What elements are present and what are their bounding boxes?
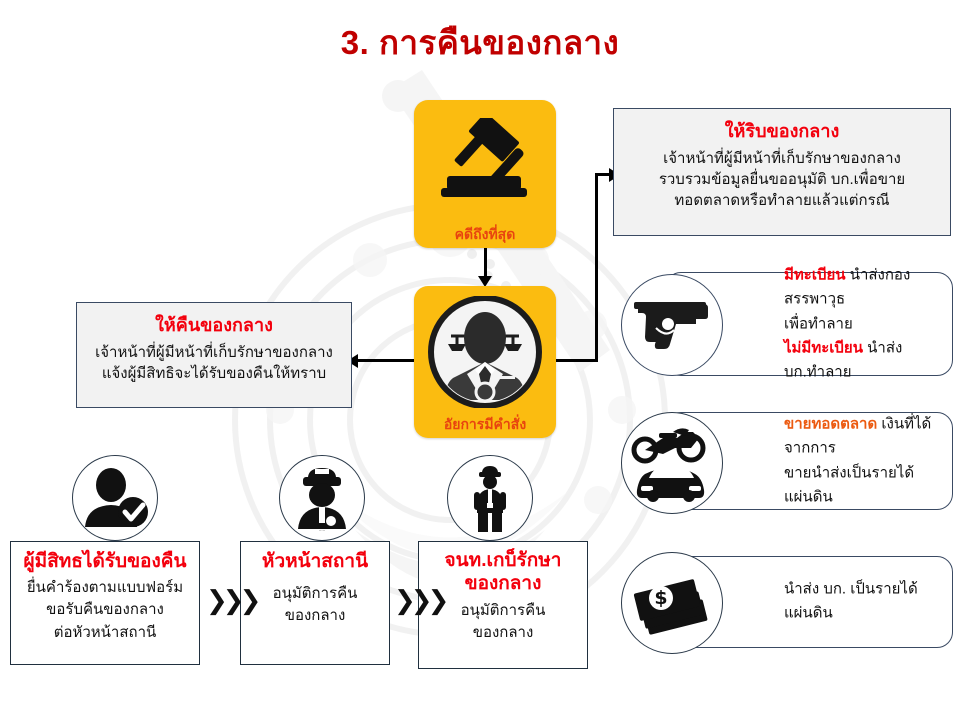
- node-case-final[interactable]: คดีถึงที่สุด: [414, 100, 556, 248]
- prosecutor-scales-icon: [414, 286, 556, 417]
- box-confiscate-title: ให้ริบของกลาง: [614, 120, 950, 143]
- page-title: 3. การคืนของกลาง: [0, 16, 960, 69]
- card-firearms-text: มีทะเบียน นำส่งกองสรรพาวุธ เพื่อทำลาย ไม…: [784, 263, 940, 384]
- workflow-step-1-line-1: ยื่นคำร้องตามแบบฟอร์ม: [11, 577, 199, 600]
- police-officer-standing-icon: [447, 455, 533, 541]
- chevron-right-icon-c: ❯: [240, 586, 257, 616]
- box-return-line-1: เจ้าหน้าที่ผู้มีหน้าที่เก็บรักษาของกลาง: [77, 342, 351, 363]
- infographic-canvas: 3. การคืนของกลาง คดีถึงที่สุด: [0, 0, 960, 720]
- card-firearms-kw-1: มีทะเบียน: [784, 266, 846, 283]
- chevron-right-icon-b: ❯: [223, 586, 240, 616]
- workflow-step-1-title: ผู้มีสิทธได้รับของคืน: [11, 551, 199, 574]
- police-officer-bust-icon: ·····: [279, 455, 365, 541]
- node-case-final-label: คดีถึงที่สุด: [455, 227, 516, 248]
- card-firearms-rest-2: เพื่อทำลาย: [784, 315, 853, 332]
- gavel-icon: [414, 100, 556, 227]
- pistol-icon: [621, 274, 723, 376]
- workflow-step-2-title: หัวหน้าสถานี: [241, 551, 389, 574]
- card-vehicles-text: ขายทอดตลาด เงินที่ได้จากการ ขายนำส่งเป็น…: [784, 412, 940, 509]
- svg-text:$: $: [654, 587, 667, 609]
- workflow-step-1-line-3: ต่อหัวหน้าสถานี: [11, 622, 199, 645]
- chevron-right-icon-f: ❯: [428, 586, 445, 616]
- node-prosecutor-order-label: อัยการมีคำสั่ง: [444, 417, 526, 438]
- banknotes-icon: $: [621, 552, 723, 654]
- connector-case-to-prosecutor: [484, 248, 487, 278]
- person-check-icon: [72, 455, 158, 541]
- workflow-separator-2: ❯❯❯: [394, 588, 444, 614]
- node-prosecutor-order[interactable]: อัยการมีคำสั่ง: [414, 286, 556, 438]
- svg-text:·····: ·····: [319, 528, 325, 533]
- connector-prosecutor-to-return: [357, 359, 417, 362]
- workflow-step-2-line-1: อนุมัติการคืน: [241, 583, 389, 606]
- workflow-step-1: ผู้มีสิทธได้รับของคืน ยื่นคำร้องตามแบบฟอ…: [10, 541, 200, 665]
- motorcycle-car-icon: [621, 412, 723, 514]
- connector-prosecutor-elbow-v: [595, 173, 598, 362]
- card-vehicles-kw-1: ขายทอดตลาด: [784, 415, 877, 432]
- card-money-text: นำส่ง บก. เป็นรายได้แผ่นดิน: [784, 578, 940, 627]
- box-confiscate-line-1: เจ้าหน้าที่ผู้มีหน้าที่เก็บรักษาของกลาง: [614, 148, 950, 169]
- workflow-step-1-line-2: ขอรับคืนของกลาง: [11, 599, 199, 622]
- box-return-title: ให้คืนของกลาง: [77, 314, 351, 337]
- box-confiscate: ให้ริบของกลาง เจ้าหน้าที่ผู้มีหน้าที่เก็…: [613, 108, 951, 236]
- chevron-right-icon-e: ❯: [411, 586, 428, 616]
- workflow-step-3-line-2: ของกลาง: [419, 622, 587, 645]
- box-confiscate-line-2: รวบรวมข้อมูลยื่นขออนุมัติ บก.เพื่อขาย: [614, 169, 950, 190]
- box-return: ให้คืนของกลาง เจ้าหน้าที่ผู้มีหน้าที่เก็…: [76, 302, 352, 408]
- connector-prosecutor-elbow-h: [554, 359, 598, 362]
- workflow-step-2-line-2: ของกลาง: [241, 605, 389, 628]
- box-return-line-2: แจ้งผู้มีสิทธิจะได้รับของคืนให้ทราบ: [77, 363, 351, 384]
- box-confiscate-line-3: ทอดตลาดหรือทำลายแล้วแต่กรณี: [614, 190, 950, 211]
- card-vehicles-rest-2: ขายนำส่งเป็นรายได้แผ่นดิน: [784, 464, 914, 505]
- chevron-right-icon-a: ❯: [206, 586, 223, 616]
- card-firearms-kw-3: ไม่มีทะเบียน: [784, 339, 863, 356]
- workflow-step-2: หัวหน้าสถานี อนุมัติการคืน ของกลาง: [240, 541, 390, 665]
- chevron-right-icon-d: ❯: [394, 586, 411, 616]
- workflow-separator-1: ❯❯❯: [206, 588, 256, 614]
- workflow-step-3-title-line-1: จนท.เกบ็รักษา: [419, 550, 587, 573]
- card-money-rest-1: นำส่ง บก. เป็นรายได้แผ่นดิน: [784, 581, 918, 622]
